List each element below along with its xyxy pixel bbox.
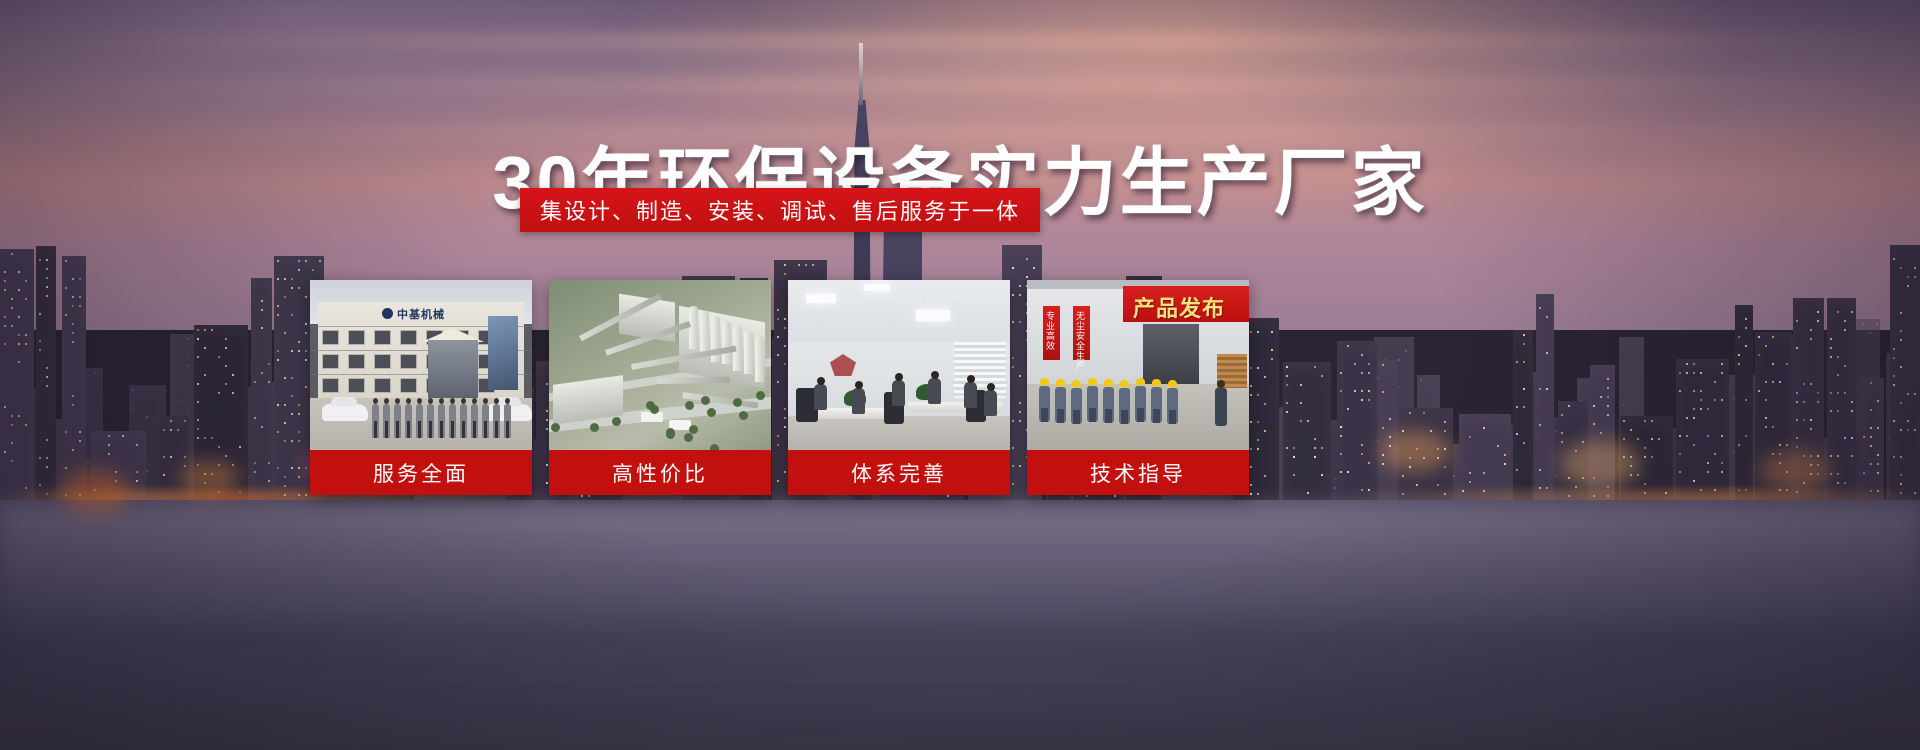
card-image-office-team [788, 280, 1010, 450]
card-caption-text: 高性价比 [612, 458, 708, 488]
worker-figure [1167, 388, 1178, 424]
building-sign: 中基机械 [382, 306, 486, 321]
office-person-figure [852, 388, 865, 414]
staff-figure [460, 404, 467, 438]
staff-figure [405, 404, 412, 438]
card-caption-text: 技术指导 [1090, 458, 1186, 488]
worker-figure [1087, 386, 1098, 422]
office-person-figure [928, 378, 941, 404]
side-banner-right: 无尘 安全生产 [1073, 306, 1090, 360]
staff-figure [383, 404, 390, 438]
hero-banner: 30年环保设备实力生产厂家 集设计、制造、安装、调试、售后服务于一体 [0, 0, 1920, 750]
worker-figure [1039, 386, 1050, 422]
card-image-production-base [549, 280, 771, 450]
company-logo-icon [382, 308, 393, 319]
card-caption-bar: 高性价比 [549, 450, 771, 495]
card-caption-bar: 技术指导 [1027, 450, 1249, 495]
staff-figure [471, 404, 478, 438]
office-person-figure [964, 382, 977, 408]
feature-card[interactable]: 产品发布 专业 高效 无尘 安全生产 技术指导 [1027, 280, 1249, 495]
staff-figure [482, 404, 489, 438]
worker-figure [1071, 388, 1082, 424]
feature-card-list: 中基机械 服务全面 [310, 280, 1270, 495]
subtitle-text: 集设计、制造、安装、调试、售后服务于一体 [540, 194, 1020, 226]
staff-figure [438, 404, 445, 438]
company-sign-text: 中基机械 [397, 306, 445, 322]
side-banner-right-text: 无尘 安全生产 [1076, 311, 1090, 371]
feature-card[interactable]: 体系完善 [788, 280, 1010, 495]
card-caption-bar: 服务全面 [310, 450, 532, 495]
card-caption-text: 体系完善 [851, 458, 947, 488]
card-caption-bar: 体系完善 [788, 450, 1010, 495]
staff-figure [394, 404, 401, 438]
staff-figure [493, 404, 500, 438]
factory-banner-text: 产品发布 [1133, 291, 1225, 323]
worker-figure [1135, 386, 1146, 422]
staff-figure [504, 404, 511, 438]
card-image-technical-training: 产品发布 专业 高效 无尘 安全生产 [1027, 280, 1249, 450]
side-banner-left-text: 专业 高效 [1046, 311, 1060, 351]
worker-figure [1103, 387, 1114, 423]
staff-figure [427, 404, 434, 438]
staff-figure [372, 404, 379, 438]
worker-figure [1151, 387, 1162, 423]
feature-card[interactable]: 中基机械 服务全面 [310, 280, 532, 495]
card-image-office-building: 中基机械 [310, 280, 532, 450]
side-banner-left: 专业 高效 [1043, 306, 1060, 360]
feature-card[interactable]: 高性价比 [549, 280, 771, 495]
staff-figure [416, 404, 423, 438]
office-person-figure [814, 384, 827, 410]
office-person-figure [984, 390, 997, 416]
factory-red-banner: 产品发布 [1123, 286, 1249, 322]
worker-figure [1119, 388, 1130, 424]
office-person-figure [892, 380, 905, 406]
worker-figure [1055, 387, 1066, 423]
card-caption-text: 服务全面 [373, 458, 469, 488]
staff-figure [449, 404, 456, 438]
subtitle-banner: 集设计、制造、安装、调试、售后服务于一体 [520, 188, 1040, 232]
